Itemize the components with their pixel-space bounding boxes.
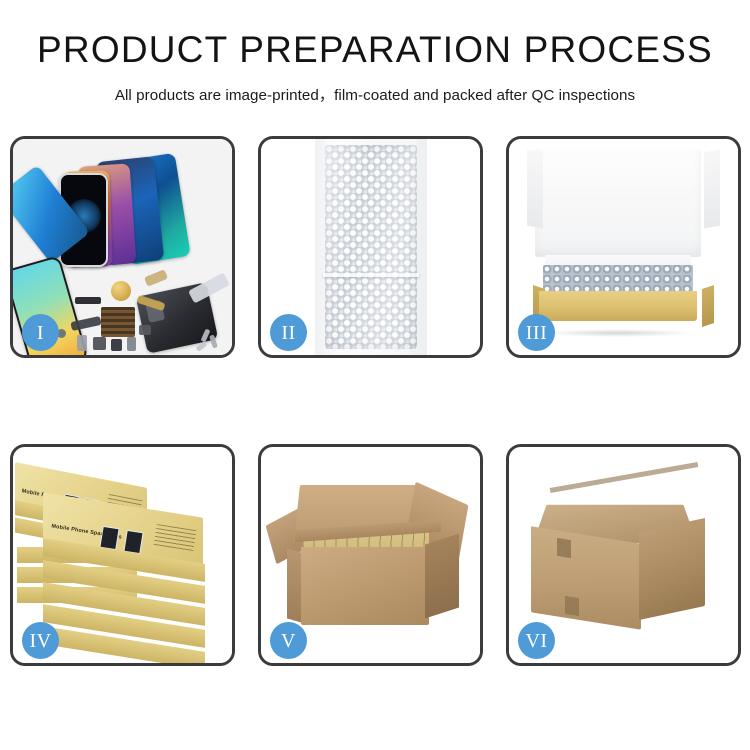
inner-box-shadow — [543, 329, 693, 337]
step-badge-2: II — [270, 314, 307, 351]
bubble-pouch-seam — [323, 273, 419, 277]
process-step-panel-6: VI — [506, 444, 741, 666]
carton-front-panel — [301, 547, 429, 625]
bubble-wrap-texture-icon — [325, 145, 417, 349]
sealed-carton-top-seam — [549, 462, 698, 493]
process-step-panel-2: II — [258, 136, 483, 358]
page-header: PRODUCT PREPARATION PROCESS All products… — [0, 0, 750, 105]
inner-box-lid-flap-left — [527, 150, 543, 229]
bubble-pouch-outer — [315, 139, 427, 355]
component-screw-tray-icon — [101, 307, 135, 337]
box-screen-graphic-3 — [99, 526, 119, 550]
product-preparation-page: PRODUCT PREPARATION PROCESS All products… — [0, 0, 750, 750]
inner-box-side-right — [702, 285, 714, 327]
page-subtitle: All products are image-printed，film-coat… — [0, 83, 750, 105]
inner-box-front-panel — [539, 291, 697, 321]
component-small-2-icon — [93, 337, 106, 350]
carton-side-panel — [425, 533, 459, 618]
component-gold-disc-icon — [111, 281, 131, 301]
process-step-grid: I II — [10, 136, 740, 666]
component-strip-icon — [75, 297, 101, 304]
step-badge-3: III — [518, 314, 555, 351]
step-badge-6: VI — [518, 622, 555, 659]
process-step-panel-1: I — [10, 136, 235, 358]
component-small-1-icon — [77, 335, 87, 351]
component-small-4-icon — [127, 337, 136, 351]
process-step-panel-4: Mobile Phone Spare Parts Mobile — [10, 444, 235, 666]
inner-box-lid-flap-right — [704, 150, 720, 229]
step-badge-4: IV — [22, 622, 59, 659]
sealed-carton-side-panel — [639, 518, 705, 620]
step-badge-5: V — [270, 622, 307, 659]
step-badge-1: I — [22, 314, 59, 351]
sealed-carton-tape-patch-1 — [557, 538, 571, 558]
page-title: PRODUCT PREPARATION PROCESS — [0, 30, 750, 71]
sealed-carton-tape-patch-2 — [565, 596, 579, 616]
inner-box-lid-icon — [535, 149, 701, 257]
process-step-panel-3: III — [506, 136, 741, 358]
spare-parts-box-front-5 — [43, 639, 205, 657]
sealed-carton-front-panel — [531, 526, 641, 629]
component-small-3-icon — [111, 339, 122, 351]
process-step-panel-5: V — [258, 444, 483, 666]
component-small-5-icon — [139, 325, 151, 335]
